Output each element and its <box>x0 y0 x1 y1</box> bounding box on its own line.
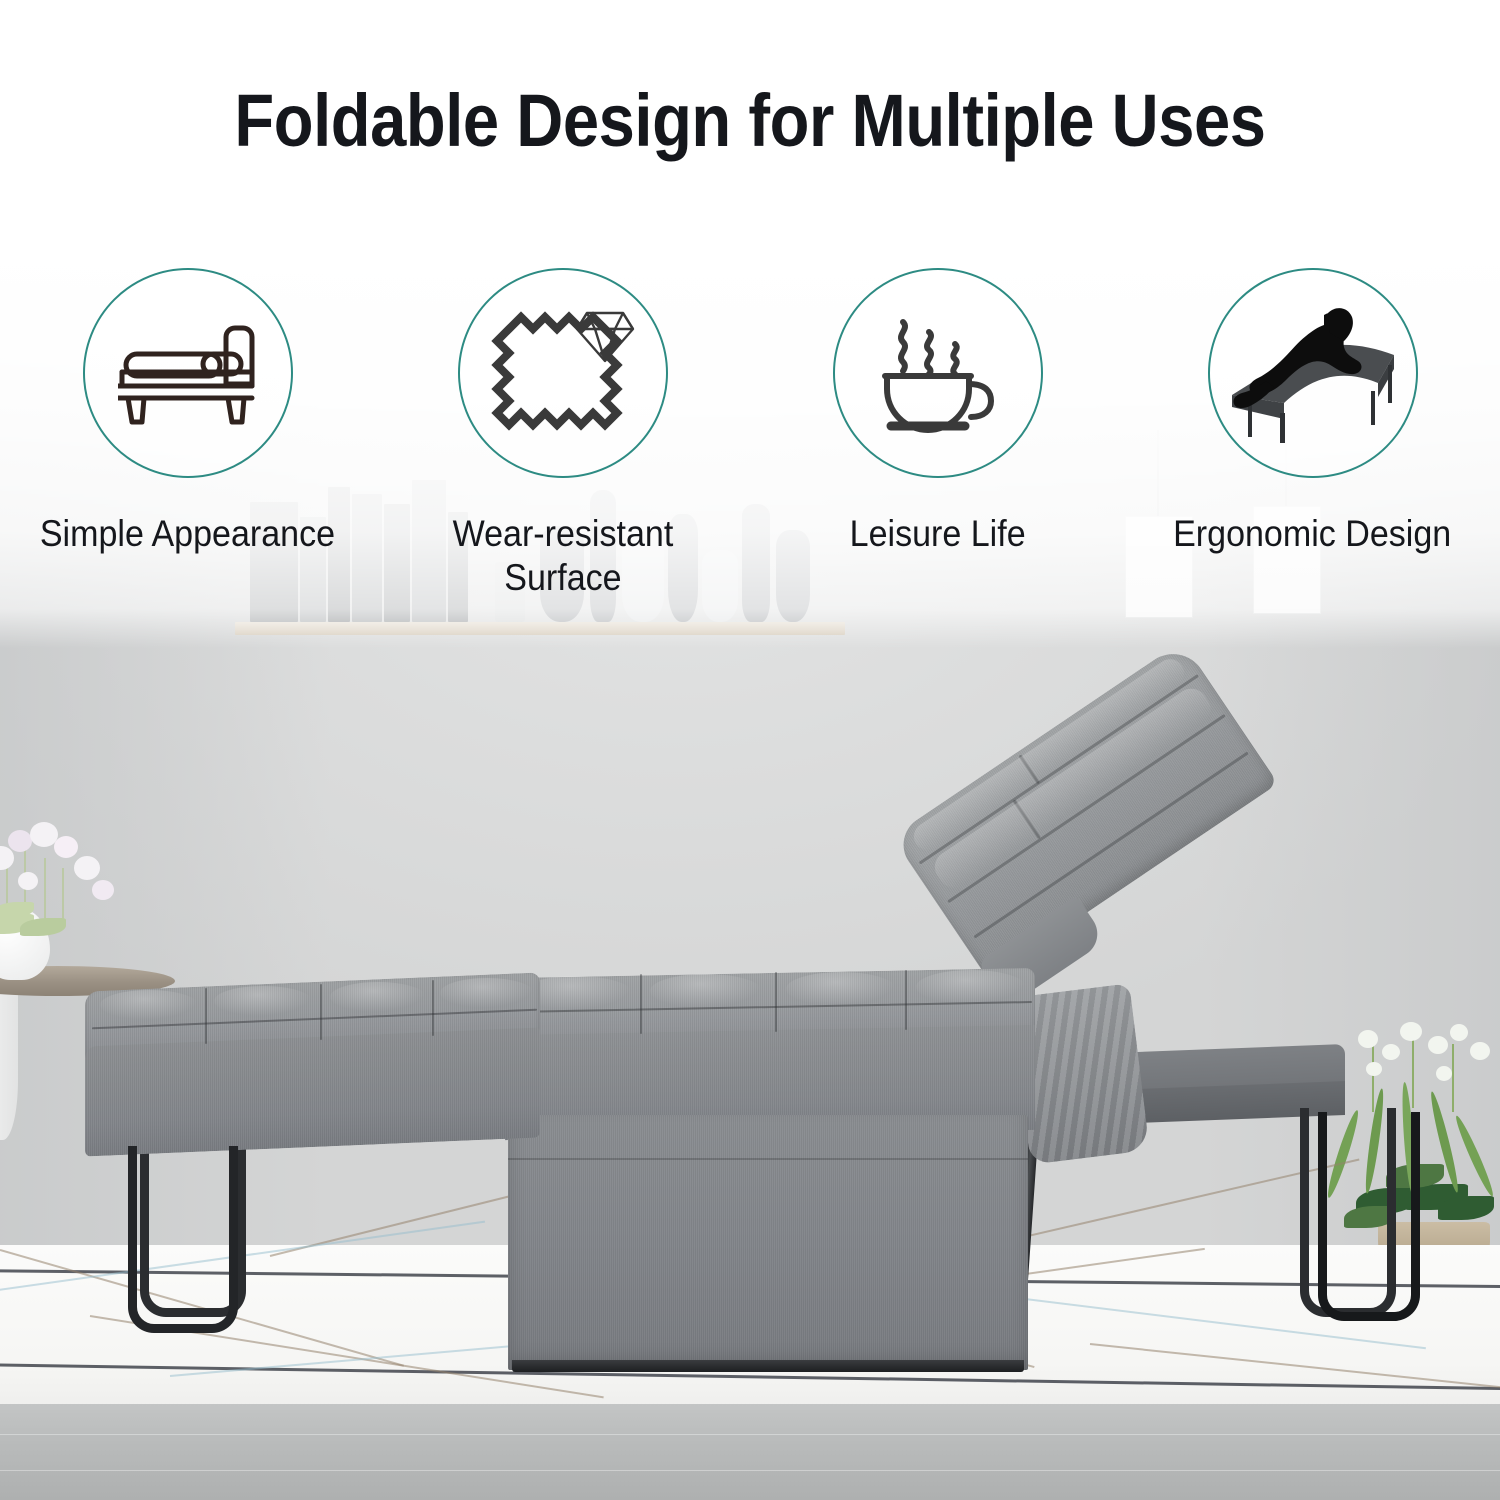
person-reclining-lounger-icon <box>1228 303 1398 443</box>
feature-label: Ergonomic Design <box>1173 512 1451 556</box>
feature-label: Simple Appearance <box>40 512 335 556</box>
feature-simple-appearance[interactable]: Simple Appearance <box>0 268 375 599</box>
fabric-swatch-diamond-icon <box>488 303 638 443</box>
sofa-base-skirt <box>508 1115 1028 1370</box>
feature-icon-circle <box>458 268 668 478</box>
feature-leisure-life[interactable]: Leisure Life <box>750 268 1125 599</box>
folding-sofa-bed <box>0 760 1500 1400</box>
feature-icon-circle <box>1208 268 1418 478</box>
feature-icon-circle <box>833 268 1043 478</box>
page-title: Foldable Design for Multiple Uses <box>90 78 1410 163</box>
feature-wear-resistant-surface[interactable]: Wear-resistant Surface <box>375 268 750 599</box>
sofa-leg-front-right <box>1318 1112 1420 1321</box>
feature-label: Wear-resistant Surface <box>452 512 673 599</box>
infographic-page: Foldable Design for Multiple Uses <box>0 0 1500 1500</box>
wood-floor <box>0 1404 1500 1500</box>
sofa-leg-front-left <box>128 1146 238 1333</box>
feature-ergonomic-design[interactable]: Ergonomic Design <box>1125 268 1500 599</box>
sofa-foot-seat-side <box>85 1027 540 1156</box>
feature-label: Leisure Life <box>849 512 1025 556</box>
bed-icon <box>118 314 258 432</box>
feature-icon-circle <box>83 268 293 478</box>
skirt-seam <box>508 1158 1028 1160</box>
feature-list: Simple Appearance <box>0 268 1500 599</box>
coffee-cup-icon <box>867 304 1009 442</box>
skirt-bottom-edge <box>512 1360 1024 1372</box>
